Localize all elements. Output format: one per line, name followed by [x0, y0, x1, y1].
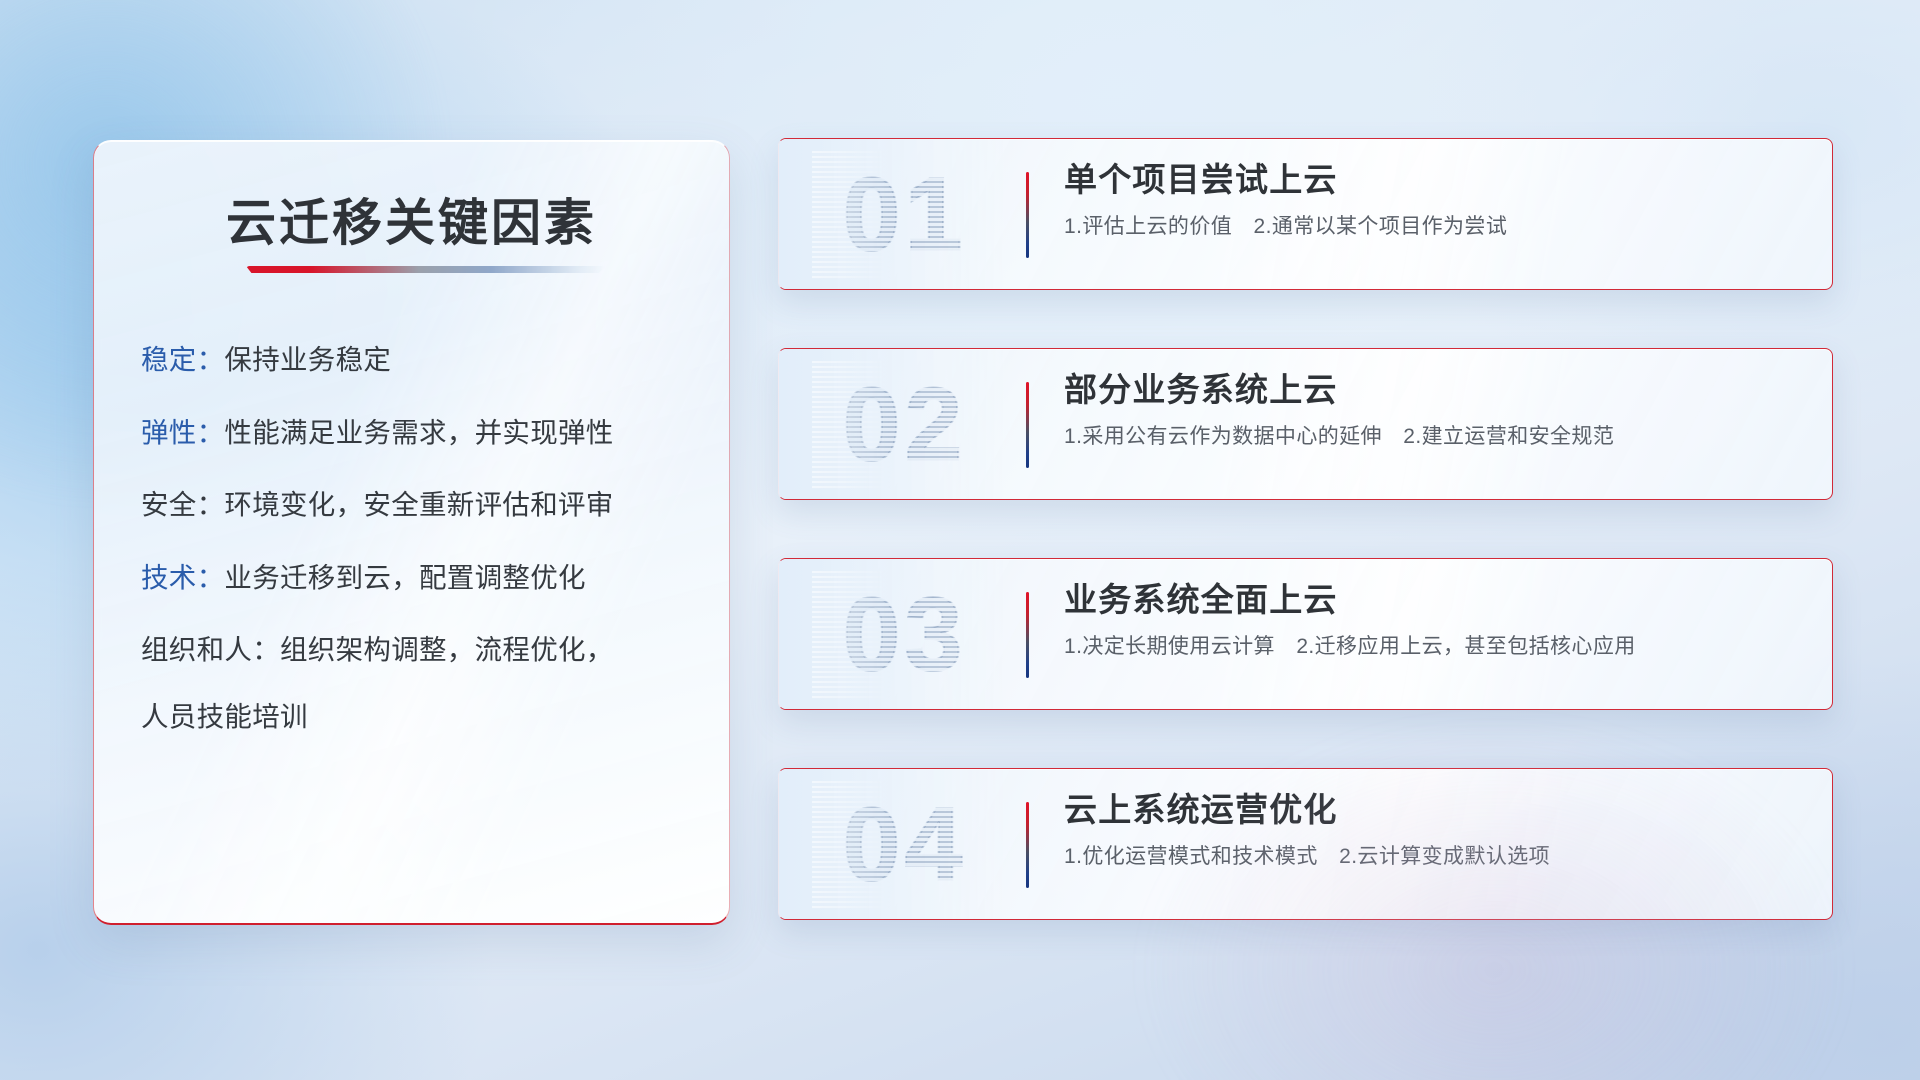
stage-card-02[interactable]: 02 部分业务系统上云 1.采用公有云作为数据中心的延伸 2.建立运营和安全规范 [778, 348, 1833, 500]
stage-title: 部分业务系统上云 [1064, 371, 1806, 409]
factor-label: 组织和人： [141, 634, 280, 665]
factor-text: 环境变化，安全重新评估和评审 [224, 489, 613, 520]
key-factors-panel: 云迁移关键因素 稳定：保持业务稳定 弹性：性能满足业务需求，并实现弹性 安全：环… [93, 140, 730, 925]
stage-number-01: 01 [812, 151, 997, 279]
factor-label: 弹性： [141, 417, 224, 448]
migration-stage-list: 01 单个项目尝试上云 1.评估上云的价值 2.通常以某个项目作为尝试 02 部… [778, 138, 1833, 920]
stage-number-02: 02 [812, 361, 997, 489]
stage-number-04: 04 [812, 781, 997, 909]
stage-subtitle: 1.决定长期使用云计算 2.迁移应用上云，甚至包括核心应用 [1064, 634, 1806, 659]
stage-title: 业务系统全面上云 [1064, 581, 1806, 619]
stage-divider-accent [1026, 802, 1029, 888]
key-factors-list: 稳定：保持业务稳定 弹性：性能满足业务需求，并实现弹性 安全：环境变化，安全重新… [141, 346, 699, 734]
factor-text: 组织架构调整，流程优化， [280, 634, 614, 665]
factor-text: 性能满足业务需求，并实现弹性 [224, 417, 613, 448]
title-underline-accent [246, 266, 606, 273]
list-item: 安全：环境变化，安全重新评估和评审 [141, 491, 699, 519]
stage-divider-accent [1026, 592, 1029, 678]
stage-card-04[interactable]: 04 云上系统运营优化 1.优化运营模式和技术模式 2.云计算变成默认选项 [778, 768, 1833, 920]
slide-canvas: 云迁移关键因素 稳定：保持业务稳定 弹性：性能满足业务需求，并实现弹性 安全：环… [0, 0, 1920, 1080]
stage-number-03: 03 [812, 571, 997, 699]
stage-card-03[interactable]: 03 业务系统全面上云 1.决定长期使用云计算 2.迁移应用上云，甚至包括核心应… [778, 558, 1833, 710]
factor-label: 稳定： [141, 344, 224, 375]
list-item: 稳定：保持业务稳定 [141, 346, 699, 374]
list-item: 组织和人：组织架构调整，流程优化， [141, 636, 699, 664]
stage-subtitle: 1.采用公有云作为数据中心的延伸 2.建立运营和安全规范 [1064, 424, 1806, 449]
factor-text: 业务迁移到云，配置调整优化 [224, 562, 585, 593]
stage-body: 业务系统全面上云 1.决定长期使用云计算 2.迁移应用上云，甚至包括核心应用 [1064, 581, 1806, 659]
stage-subtitle: 1.评估上云的价值 2.通常以某个项目作为尝试 [1064, 214, 1806, 239]
factor-text: 保持业务稳定 [224, 344, 391, 375]
stage-title: 云上系统运营优化 [1064, 791, 1806, 829]
stage-body: 单个项目尝试上云 1.评估上云的价值 2.通常以某个项目作为尝试 [1064, 161, 1806, 239]
stage-card-01[interactable]: 01 单个项目尝试上云 1.评估上云的价值 2.通常以某个项目作为尝试 [778, 138, 1833, 290]
page-title: 云迁移关键因素 [94, 183, 729, 255]
stage-body: 云上系统运营优化 1.优化运营模式和技术模式 2.云计算变成默认选项 [1064, 791, 1806, 869]
list-item: 技术：业务迁移到云，配置调整优化 [141, 564, 699, 592]
list-item: 弹性：性能满足业务需求，并实现弹性 [141, 419, 699, 447]
stage-title: 单个项目尝试上云 [1064, 161, 1806, 199]
stage-divider-accent [1026, 172, 1029, 258]
stage-body: 部分业务系统上云 1.采用公有云作为数据中心的延伸 2.建立运营和安全规范 [1064, 371, 1806, 449]
factor-text-continuation: 人员技能培训 [141, 694, 699, 734]
factor-label: 技术： [141, 562, 224, 593]
stage-divider-accent [1026, 382, 1029, 468]
factor-label: 安全： [141, 489, 224, 520]
stage-subtitle: 1.优化运营模式和技术模式 2.云计算变成默认选项 [1064, 844, 1806, 869]
